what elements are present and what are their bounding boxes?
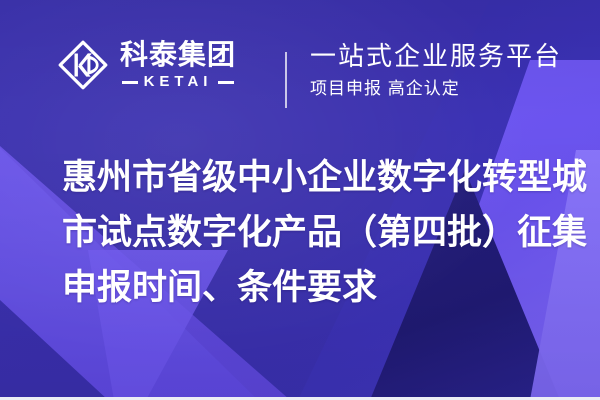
- title-line-3: 申报时间、条件要求: [62, 260, 562, 315]
- slogan-block: 一站式企业服务平台 项目申报 高企认定: [310, 40, 562, 100]
- brand-name-cn: 科泰集团: [120, 40, 236, 70]
- brand-name-en: KETAI: [144, 74, 213, 90]
- slogan-main-text: 一站式企业服务平台: [310, 40, 562, 72]
- title-line-1: 惠州市省级中小企业数字化转型城: [62, 150, 562, 205]
- header-vertical-divider: [285, 52, 287, 108]
- banner-header: 科泰集团 KETAI 一站式企业服务平台 项目申报 高企认定: [0, 0, 600, 130]
- brand-text-block: 科泰集团 KETAI: [120, 40, 236, 90]
- ketai-diamond-kd-logo-icon: [56, 38, 110, 92]
- slogan-sub-text: 项目申报 高企认定: [310, 78, 562, 100]
- brand-rule-left-icon: [122, 81, 138, 84]
- page-title: 惠州市省级中小企业数字化转型城 市试点数字化产品（第四批）征集 申报时间、条件要…: [62, 150, 562, 315]
- title-line-2: 市试点数字化产品（第四批）征集: [62, 205, 562, 260]
- brand-lockup: 科泰集团 KETAI: [56, 38, 236, 92]
- brand-name-en-row: KETAI: [122, 74, 235, 90]
- brand-rule-right-icon: [218, 81, 234, 84]
- promo-banner: 科泰集团 KETAI 一站式企业服务平台 项目申报 高企认定 惠州市省级中小企业…: [0, 0, 600, 400]
